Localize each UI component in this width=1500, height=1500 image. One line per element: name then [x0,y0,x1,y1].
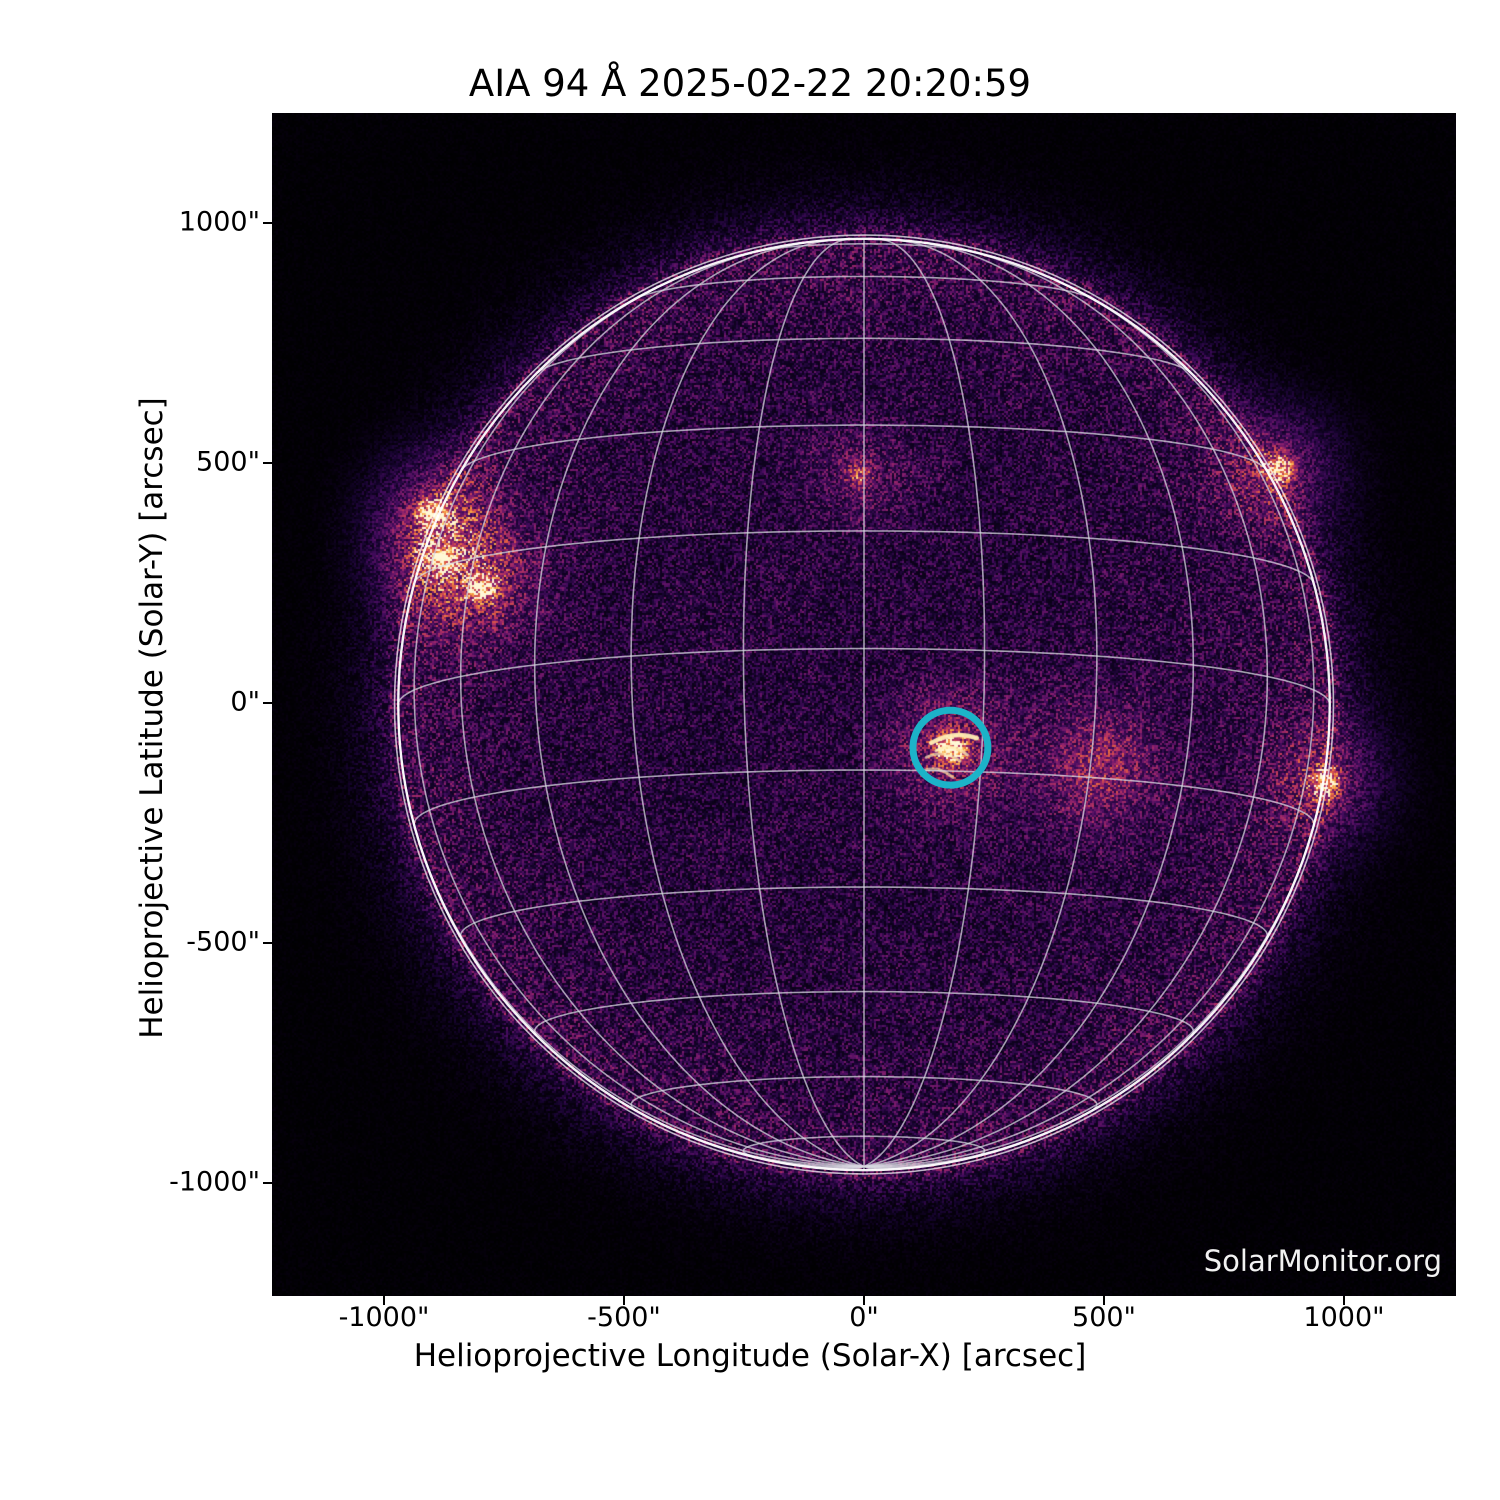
xtick-label: 500" [1072,1302,1136,1333]
xtick-label: -500" [587,1302,661,1333]
ytick-label: -500" [186,927,260,958]
ytick-mark [263,462,272,464]
ytick-label: 500" [196,447,260,478]
plot-area: SolarMonitor.org [272,113,1456,1296]
ytick-mark [263,702,272,704]
ytick-mark [263,942,272,944]
y-axis-label: Helioprojective Latitude (Solar-Y) [arcs… [134,126,170,1310]
ytick-mark [263,1182,272,1184]
ytick-label: 0" [230,687,260,718]
active-region-marker-circle[interactable] [913,710,988,785]
xtick-label: 0" [849,1302,879,1333]
xtick-label: -1000" [339,1302,430,1333]
heliographic-grid [398,239,1329,1170]
watermark: SolarMonitor.org [1204,1244,1442,1278]
solar-image-figure: AIA 94 Å 2025-02-22 20:20:59 SolarMonito… [0,0,1500,1500]
page-title: AIA 94 Å 2025-02-22 20:20:59 [0,62,1500,105]
ytick-mark [263,222,272,224]
grid-overlay [272,113,1456,1296]
ytick-label: -1000" [169,1167,260,1198]
ytick-label: 1000" [179,207,260,238]
xtick-label: 1000" [1303,1302,1384,1333]
x-axis-label: Helioprojective Longitude (Solar-X) [arc… [0,1338,1500,1374]
